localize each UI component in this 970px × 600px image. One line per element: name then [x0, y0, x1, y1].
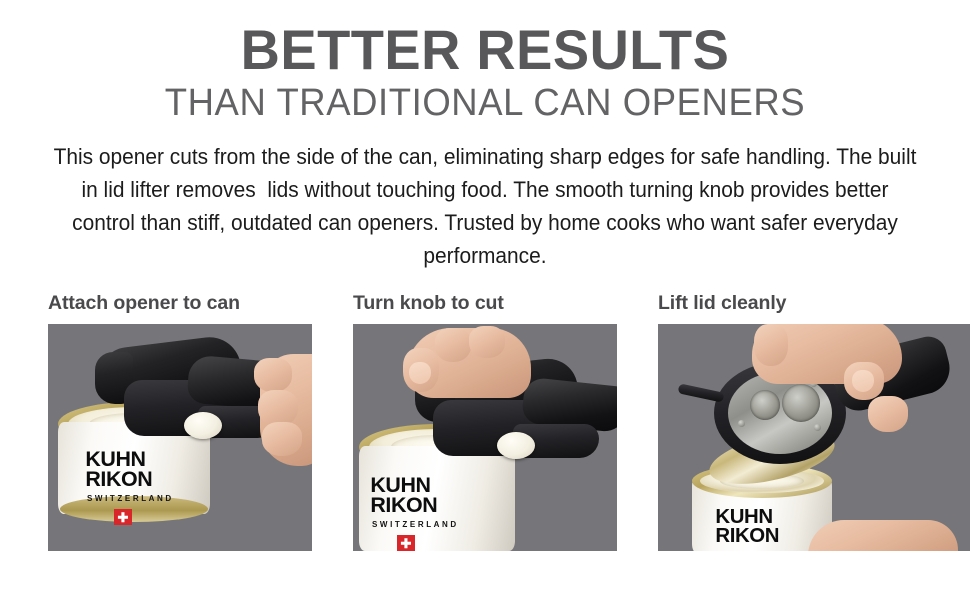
step-photo-turn: KUHN RIKON SWITZERLAND ✚ [353, 324, 617, 551]
step-photo-lift: KUHN RIKON [658, 324, 970, 551]
page-subtitle: THAN TRADITIONAL CAN OPENERS [19, 84, 950, 124]
brand-line-1: KUHN [85, 450, 152, 470]
supporting-hand [808, 520, 958, 551]
step-photo-attach: KUHN RIKON SWITZERLAND ✚ [48, 324, 312, 551]
lid-lifter-hook [677, 383, 724, 402]
brand-logo-attach: KUHN RIKON [85, 450, 152, 489]
brand-line-1: KUHN [370, 476, 437, 496]
swiss-cross-badge: ✚ [114, 509, 132, 525]
finger-middle [469, 326, 505, 358]
step-panel-turn: Turn knob to cut KUHN RIKON SWITZERLAND … [353, 292, 617, 551]
brand-line-1: KUHN [715, 508, 779, 527]
brand-logo-lift: KUHN RIKON [715, 508, 779, 545]
header-block: BETTER RESULTS THAN TRADITIONAL CAN OPEN… [0, 22, 970, 124]
brand-line-2: RIKON [370, 496, 437, 516]
opener-knob [497, 432, 535, 459]
finger-index [754, 324, 788, 366]
finger-index [435, 328, 471, 362]
swiss-cross-glyph: ✚ [401, 537, 412, 550]
swiss-cross-glyph: ✚ [118, 511, 129, 524]
body-paragraph: This opener cuts from the side of the ca… [53, 140, 918, 272]
steps-row: Attach opener to can KUHN RIKON SWITZERL… [48, 292, 928, 557]
brand-line-2: RIKON [85, 470, 152, 490]
finger-index [254, 358, 292, 392]
finger-middle [258, 390, 298, 426]
step-caption-attach: Attach opener to can [48, 292, 312, 315]
page-title: BETTER RESULTS [15, 22, 956, 78]
step-panel-lift: Lift lid cleanly KUHN RIKON [658, 292, 970, 551]
thumb-nail [852, 370, 874, 392]
brand-logo-turn: KUHN RIKON [370, 476, 437, 515]
mechanism-rivet [738, 420, 745, 427]
cutting-gear-small [750, 390, 780, 420]
step-caption-lift: Lift lid cleanly [658, 292, 970, 315]
product-feature-page: BETTER RESULTS THAN TRADITIONAL CAN OPEN… [0, 0, 970, 600]
brand-country-turn: SWITZERLAND [372, 520, 459, 529]
brand-country-attach: SWITZERLAND [87, 494, 174, 503]
finger-middle [868, 396, 908, 432]
finger-ring [262, 422, 302, 456]
cutting-gear-large [782, 384, 820, 422]
brand-line-2: RIKON [715, 527, 779, 546]
thumb-nail [409, 362, 431, 384]
step-panel-attach: Attach opener to can KUHN RIKON SWITZERL… [48, 292, 312, 551]
step-caption-turn: Turn knob to cut [353, 292, 617, 315]
swiss-cross-badge: ✚ [397, 535, 415, 551]
mechanism-rivet [814, 424, 821, 431]
opener-knob [184, 412, 222, 439]
